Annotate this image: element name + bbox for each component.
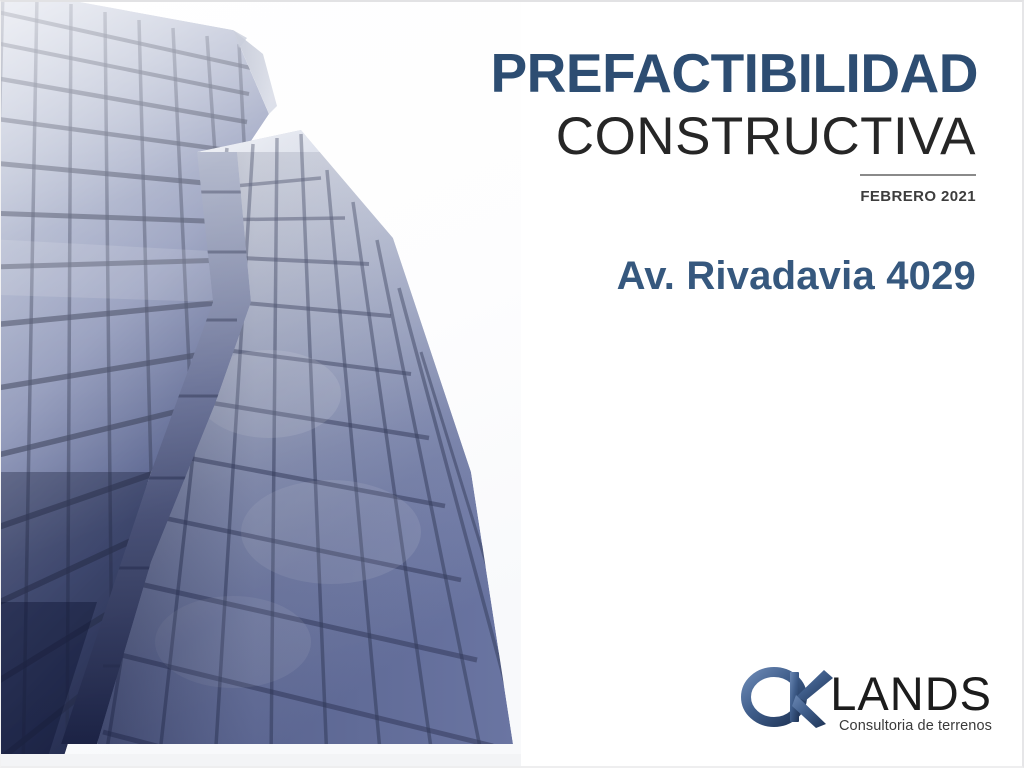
logo-wordmark: LANDS — [830, 672, 992, 715]
property-address: Av. Rivadavia 4029 — [617, 254, 976, 299]
date-divider — [860, 174, 976, 176]
page-title-primary: PREFACTIBILIDAD — [491, 46, 979, 101]
ok-monogram-icon — [738, 666, 834, 728]
page-title-secondary: CONSTRUCTIVA — [556, 110, 976, 163]
logo-tagline: Consultoria de terrenos — [839, 718, 992, 734]
date-label: FEBRERO 2021 — [860, 188, 976, 205]
building-photo — [1, 2, 521, 766]
title-slide: PREFACTIBILIDAD CONSTRUCTIVA FEBRERO 202… — [0, 0, 1024, 768]
title-text-column: PREFACTIBILIDAD CONSTRUCTIVA FEBRERO 202… — [458, 2, 978, 766]
logo-wordmark-block: LANDS Consultoria de terrenos — [830, 672, 992, 734]
oklands-logo: LANDS Consultoria de terrenos — [738, 658, 992, 734]
